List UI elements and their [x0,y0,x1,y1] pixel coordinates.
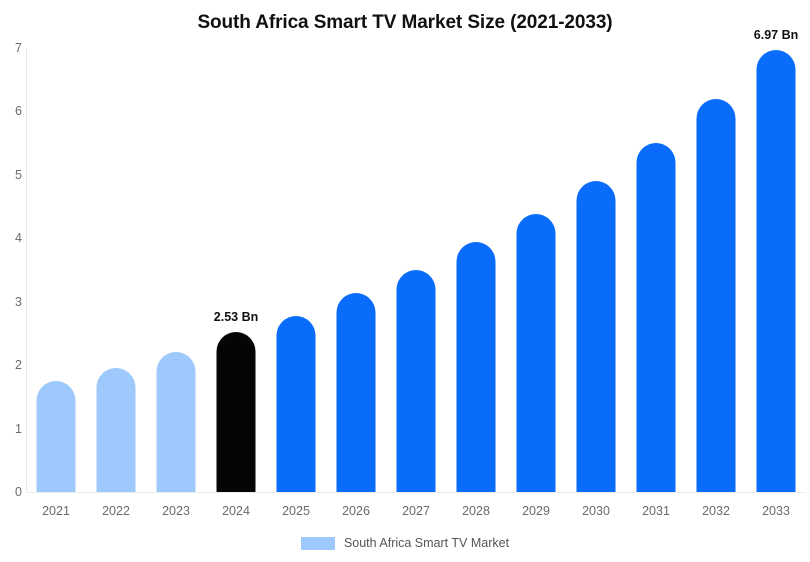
y-axis-tick-label: 6 [2,104,22,118]
bar-slot [626,48,686,492]
bar-2027[interactable] [397,270,436,492]
bar-value-label-2024: 2.53 Bn [214,310,258,324]
bar-2029[interactable] [517,214,556,492]
x-axis-tick-label: 2023 [162,504,190,518]
chart-legend: South Africa Smart TV Market [0,536,810,550]
bar-slot [266,48,326,492]
bar-slot [446,48,506,492]
bar-slot: 2.53 Bn [206,48,266,492]
bar-2021[interactable] [37,381,76,492]
x-axis-tick-label: 2021 [42,504,70,518]
bar-slot [326,48,386,492]
legend-label: South Africa Smart TV Market [344,536,509,550]
bar-2026[interactable] [337,293,376,492]
chart-container: South Africa Smart TV Market Size (2021-… [0,0,810,562]
bar-2031[interactable] [637,143,676,492]
y-axis-tick-label: 2 [2,358,22,372]
bar-slot [386,48,446,492]
y-axis-tick-label: 0 [2,485,22,499]
x-axis-tick-label: 2025 [282,504,310,518]
x-axis-tick-label: 2032 [702,504,730,518]
bar-2033[interactable] [757,50,796,492]
y-axis-tick-label: 3 [2,295,22,309]
y-axis-tick-label: 1 [2,422,22,436]
bar-2023[interactable] [157,352,196,492]
x-axis-tick-label: 2027 [402,504,430,518]
bar-2028[interactable] [457,242,496,492]
x-axis-tick-label: 2028 [462,504,490,518]
y-axis-tick-label: 7 [2,41,22,55]
bar-slot [686,48,746,492]
x-axis-tick-label: 2033 [762,504,790,518]
x-axis-tick-label: 2024 [222,504,250,518]
legend-swatch-icon [301,537,335,550]
chart-title: South Africa Smart TV Market Size (2021-… [0,12,810,34]
bar-slot [146,48,206,492]
x-axis-tick-label: 2029 [522,504,550,518]
x-axis: 2021202220232024202520262027202820292030… [26,498,806,520]
x-axis-tick-label: 2022 [102,504,130,518]
x-axis-tick-label: 2026 [342,504,370,518]
x-axis-tick-label: 2030 [582,504,610,518]
bar-2024[interactable] [217,332,256,492]
bar-slot: 6.97 Bn [746,48,806,492]
bar-slot [86,48,146,492]
bar-2030[interactable] [577,181,616,492]
bar-slot [506,48,566,492]
bar-2032[interactable] [697,99,736,492]
y-axis-tick-label: 4 [2,231,22,245]
x-axis-tick-label: 2031 [642,504,670,518]
bar-slot [26,48,86,492]
bar-value-label-2033: 6.97 Bn [754,28,798,42]
bar-series: 2.53 Bn6.97 Bn [26,48,806,492]
bar-2025[interactable] [277,316,316,492]
bar-slot [566,48,626,492]
bar-2022[interactable] [97,368,136,492]
y-axis-tick-label: 5 [2,168,22,182]
x-axis-line [26,492,806,493]
